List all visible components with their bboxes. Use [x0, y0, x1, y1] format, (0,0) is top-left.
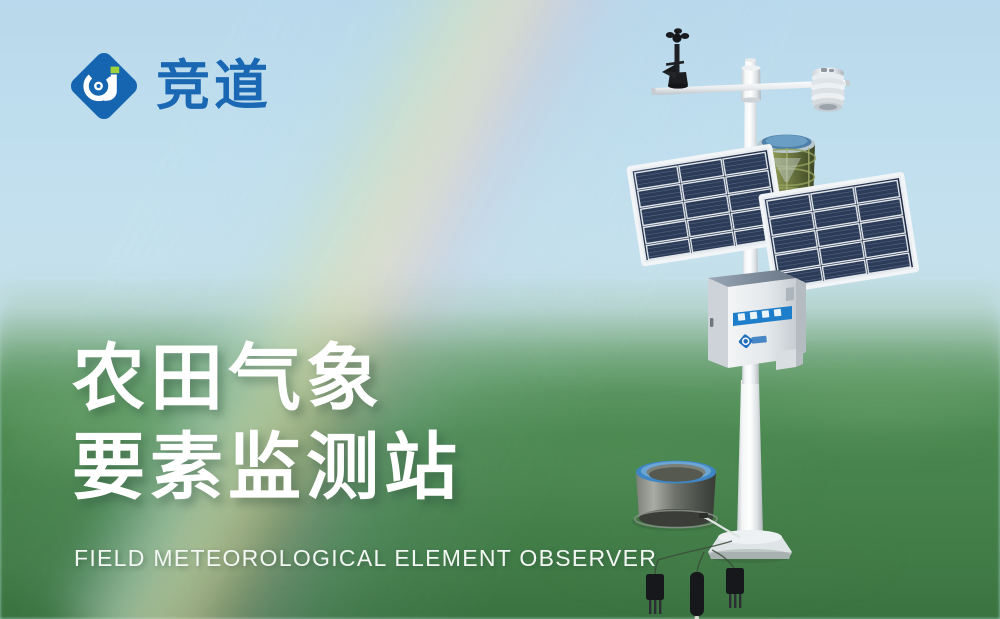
jingdao-diamond-logo-icon	[68, 50, 140, 122]
brand-logo: 竞道	[68, 50, 272, 122]
product-banner: 竞道 农田气象 要素监测站 FIELD METEOROLOGICAL ELEME…	[0, 0, 1000, 619]
subtitle: FIELD METEOROLOGICAL ELEMENT OBSERVER	[74, 545, 657, 572]
brand-name: 竞道	[156, 59, 272, 113]
headline-line-2: 要素监测站	[72, 423, 462, 512]
headline-line-1: 农田气象	[72, 338, 384, 419]
page-title: 农田气象 要素监测站	[72, 334, 462, 512]
